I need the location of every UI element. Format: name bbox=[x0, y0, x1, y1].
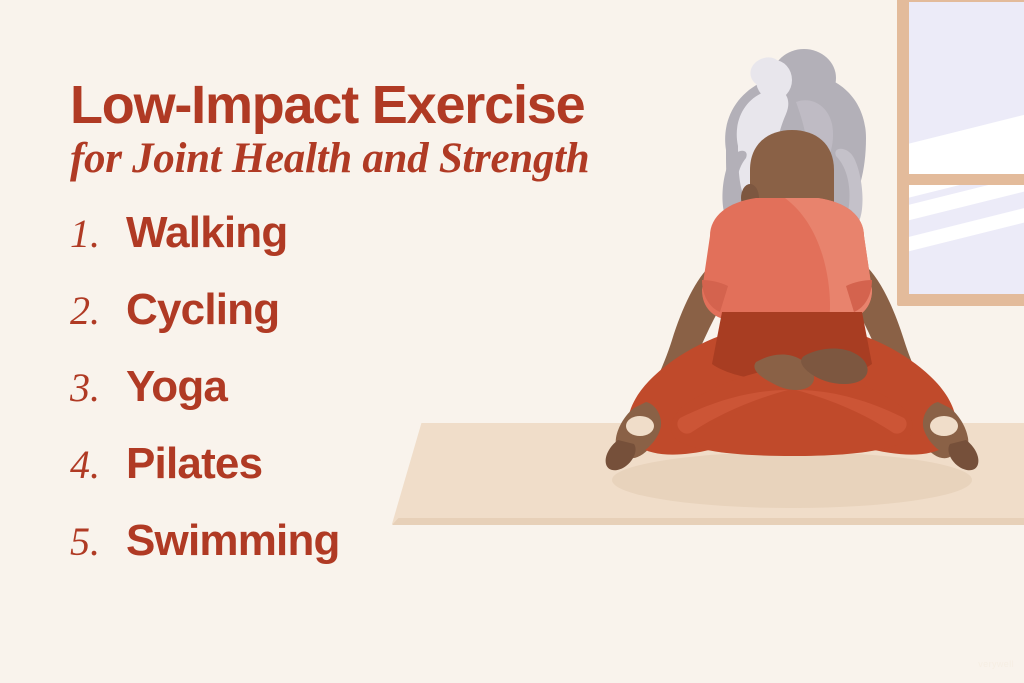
text-block: Low-Impact Exercise for Joint Health and… bbox=[70, 78, 710, 593]
list-item: 2. Cycling bbox=[70, 285, 710, 362]
infographic-poster: Low-Impact Exercise for Joint Health and… bbox=[0, 0, 1024, 683]
list-item: 4. Pilates bbox=[70, 439, 710, 516]
list-item-label: Pilates bbox=[126, 439, 262, 489]
list-item-label: Swimming bbox=[126, 516, 340, 566]
list-item: 1. Walking bbox=[70, 208, 710, 285]
list-item-label: Cycling bbox=[126, 285, 279, 335]
list-item-number: 4. bbox=[70, 441, 126, 488]
list-item-number: 5. bbox=[70, 518, 126, 565]
exercise-list: 1. Walking 2. Cycling 3. Yoga 4. Pilates… bbox=[70, 208, 710, 593]
list-item-number: 2. bbox=[70, 287, 126, 334]
list-item-number: 3. bbox=[70, 364, 126, 411]
page-subtitle: for Joint Health and Strength bbox=[70, 136, 710, 182]
list-item-label: Walking bbox=[126, 208, 287, 258]
list-item-number: 1. bbox=[70, 210, 126, 257]
list-item-label: Yoga bbox=[126, 362, 227, 412]
watermark: verywell bbox=[978, 659, 1014, 669]
list-item: 3. Yoga bbox=[70, 362, 710, 439]
page-title: Low-Impact Exercise bbox=[70, 78, 710, 134]
list-item: 5. Swimming bbox=[70, 516, 710, 593]
